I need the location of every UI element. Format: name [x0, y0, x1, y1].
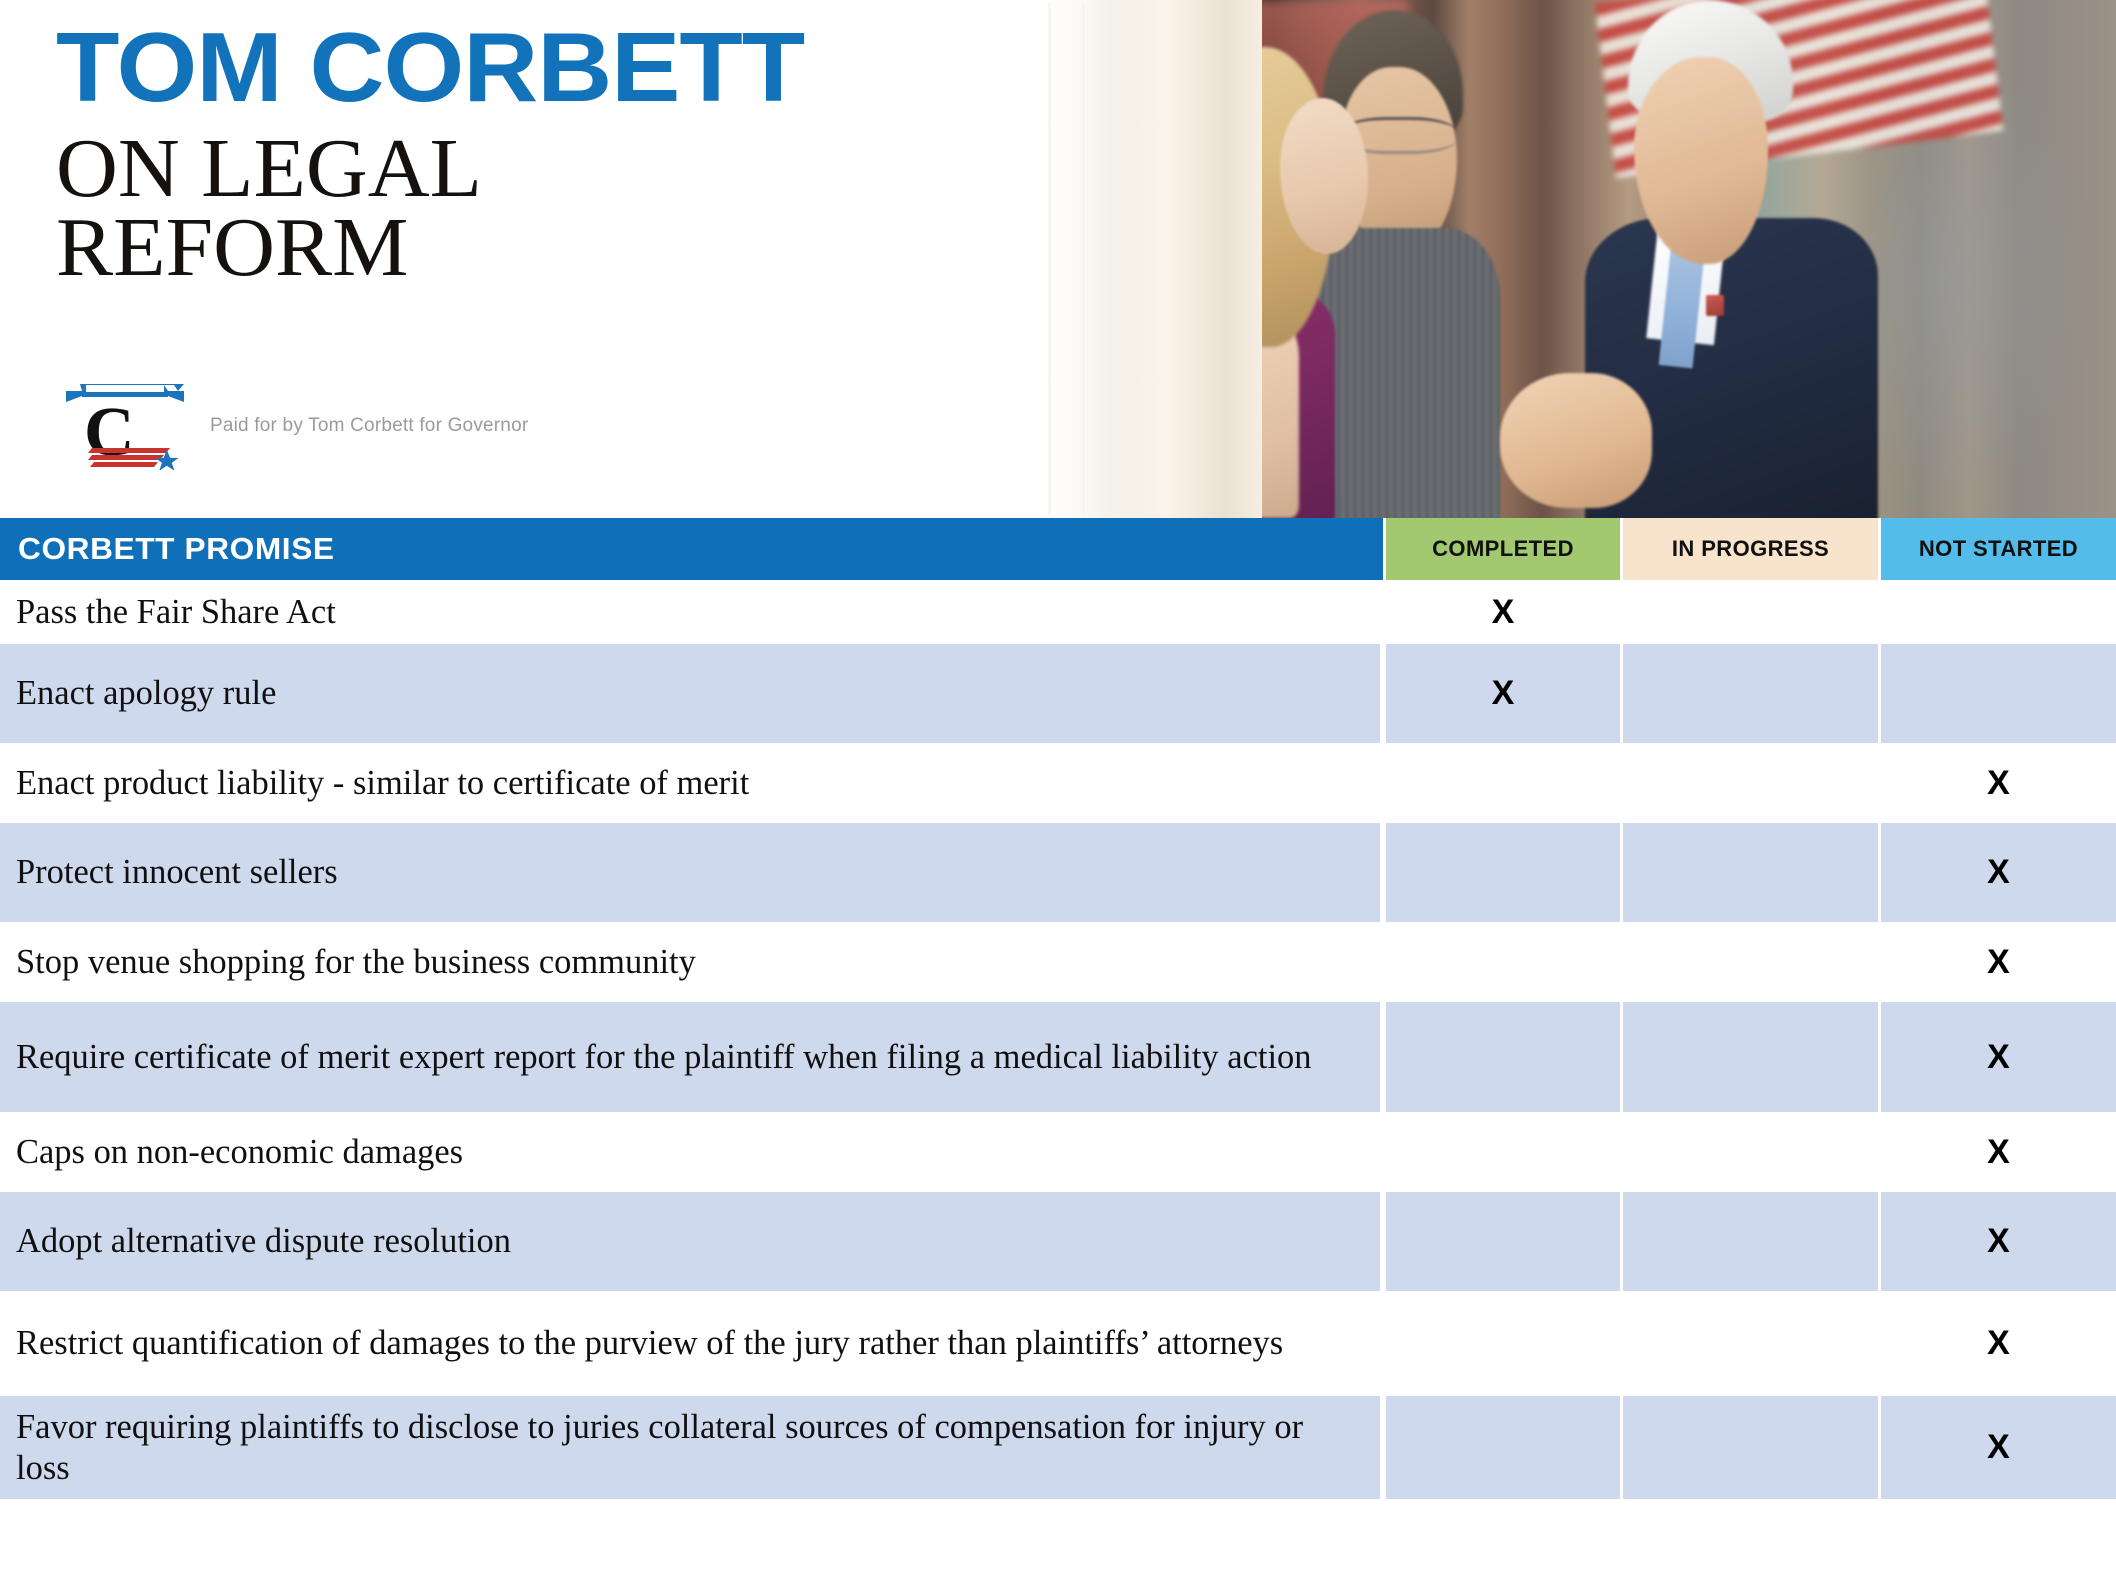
cell-in-progress — [1620, 1396, 1878, 1499]
cell-completed: X — [1383, 644, 1620, 743]
column-header-completed: COMPLETED — [1383, 518, 1620, 580]
promise-text: Favor requiring plaintiffs to disclose t… — [16, 1407, 1344, 1488]
status-mark: X — [1987, 1038, 2010, 1077]
paid-for-disclaimer: Paid for by Tom Corbett for Governor — [210, 415, 528, 437]
cell-in-progress — [1620, 823, 1878, 922]
status-mark: X — [1987, 764, 2010, 803]
status-mark: X — [1492, 593, 1515, 632]
status-mark: X — [1987, 1428, 2010, 1467]
table-header-row: CORBETT PROMISE COMPLETED IN PROGRESS NO… — [0, 518, 2116, 580]
page-title-subject-line2: REFORM — [56, 209, 974, 288]
table-body: Pass the Fair Share ActXEnact apology ru… — [0, 580, 2116, 1499]
column-header-in-progress-label: IN PROGRESS — [1672, 536, 1829, 562]
table-row: Protect innocent sellersX — [0, 823, 2116, 922]
cell-not-started: X — [1878, 1396, 2116, 1499]
cell-in-progress — [1620, 1002, 1878, 1112]
masthead: TOM CORBETT ON LEGAL REFORM C — [0, 0, 2116, 518]
cell-promise: Require certificate of merit expert repo… — [0, 1002, 1383, 1112]
cell-not-started: X — [1878, 1112, 2116, 1192]
promise-table: CORBETT PROMISE COMPLETED IN PROGRESS NO… — [0, 518, 2116, 1499]
cell-completed — [1383, 743, 1620, 823]
cell-not-started: X — [1878, 823, 2116, 922]
cell-not-started — [1878, 580, 2116, 644]
promise-text: Pass the Fair Share Act — [16, 592, 336, 633]
table-row: Caps on non-economic damagesX — [0, 1112, 2116, 1192]
cell-promise: Favor requiring plaintiffs to disclose t… — [0, 1396, 1383, 1499]
promise-text: Caps on non-economic damages — [16, 1132, 463, 1173]
cell-promise: Pass the Fair Share Act — [0, 580, 1383, 644]
column-header-in-progress: IN PROGRESS — [1620, 518, 1878, 580]
cell-not-started: X — [1878, 1192, 2116, 1291]
cell-not-started: X — [1878, 922, 2116, 1002]
cell-in-progress — [1620, 922, 1878, 1002]
corbett-logo: C — [62, 382, 186, 470]
cell-in-progress — [1620, 580, 1878, 644]
page-title-name: TOM CORBETT — [56, 18, 1010, 118]
table-row: Require certificate of merit expert repo… — [0, 1002, 2116, 1112]
cell-completed — [1383, 1112, 1620, 1192]
cell-promise: Restrict quantification of damages to th… — [0, 1291, 1383, 1396]
cell-in-progress — [1620, 743, 1878, 823]
flag-stripes-icon — [88, 448, 184, 470]
column-header-promise-label: CORBETT PROMISE — [18, 531, 335, 567]
flag-lapel-pin-icon — [1706, 295, 1724, 316]
cell-not-started — [1878, 644, 2116, 743]
table-row: Enact apology ruleX — [0, 644, 2116, 743]
column-header-completed-label: COMPLETED — [1432, 536, 1574, 562]
campaign-photo — [896, 0, 2116, 518]
cell-completed — [1383, 823, 1620, 922]
cell-in-progress — [1620, 1291, 1878, 1396]
promise-text: Stop venue shopping for the business com… — [16, 942, 696, 983]
table-row: Favor requiring plaintiffs to disclose t… — [0, 1396, 2116, 1499]
promise-text: Require certificate of merit expert repo… — [16, 1037, 1312, 1078]
campaign-logo-row: C Paid for by Tom Corbett for Governor — [62, 382, 528, 470]
cell-in-progress — [1620, 1112, 1878, 1192]
promise-text: Restrict quantification of damages to th… — [16, 1323, 1283, 1364]
promise-text: Enact apology rule — [16, 673, 276, 714]
cell-not-started: X — [1878, 1291, 2116, 1396]
cell-completed — [1383, 1396, 1620, 1499]
page-title-subject: ON LEGAL REFORM — [56, 130, 974, 288]
promise-text: Enact product liability - similar to cer… — [16, 763, 749, 804]
cell-completed — [1383, 1192, 1620, 1291]
cell-not-started: X — [1878, 743, 2116, 823]
page-title-subject-line1: ON LEGAL — [56, 130, 974, 209]
cell-promise: Adopt alternative dispute resolution — [0, 1192, 1383, 1291]
promise-text: Protect innocent sellers — [16, 852, 338, 893]
status-mark: X — [1987, 1133, 2010, 1172]
cell-promise: Enact product liability - similar to cer… — [0, 743, 1383, 823]
cell-completed — [1383, 1002, 1620, 1112]
status-mark: X — [1492, 674, 1515, 713]
column-header-promise: CORBETT PROMISE — [0, 518, 1383, 580]
photo-governor-hands — [1500, 373, 1653, 508]
cell-promise: Caps on non-economic damages — [0, 1112, 1383, 1192]
cell-in-progress — [1620, 644, 1878, 743]
cell-completed — [1383, 922, 1620, 1002]
masthead-title: TOM CORBETT ON LEGAL REFORM — [56, 18, 956, 288]
status-mark: X — [1987, 1222, 2010, 1261]
promise-text: Adopt alternative dispute resolution — [16, 1221, 511, 1262]
table-row: Restrict quantification of damages to th… — [0, 1291, 2116, 1396]
column-header-not-started-label: NOT STARTED — [1919, 536, 2078, 562]
status-mark: X — [1987, 853, 2010, 892]
table-row: Stop venue shopping for the business com… — [0, 922, 2116, 1002]
table-row: Pass the Fair Share ActX — [0, 580, 2116, 644]
cell-completed: X — [1383, 580, 1620, 644]
cell-promise: Protect innocent sellers — [0, 823, 1383, 922]
column-header-not-started: NOT STARTED — [1878, 518, 2116, 580]
cell-promise: Enact apology rule — [0, 644, 1383, 743]
promise-scorecard-page: TOM CORBETT ON LEGAL REFORM C — [0, 0, 2116, 1579]
cell-promise: Stop venue shopping for the business com… — [0, 922, 1383, 1002]
cell-not-started: X — [1878, 1002, 2116, 1112]
status-mark: X — [1987, 943, 2010, 982]
table-row: Enact product liability - similar to cer… — [0, 743, 2116, 823]
table-row: Adopt alternative dispute resolutionX — [0, 1192, 2116, 1291]
cell-completed — [1383, 1291, 1620, 1396]
status-mark: X — [1987, 1324, 2010, 1363]
cell-in-progress — [1620, 1192, 1878, 1291]
